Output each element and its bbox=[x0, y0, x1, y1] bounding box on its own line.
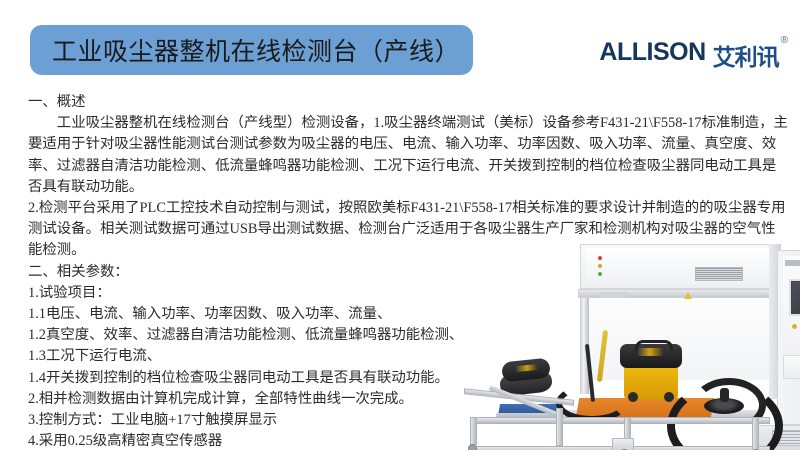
section-one-heading: 一、概述 bbox=[28, 92, 788, 113]
title-banner: 工业吸尘器整机在线检测台（产线） bbox=[30, 25, 473, 75]
slide-root: 工业吸尘器整机在线检测台（产线） ALLISON 艾利讯 ® 一、概述 工业吸尘… bbox=[0, 0, 800, 450]
overview-paragraph-1: 工业吸尘器整机在线检测台（产线型）检测设备，1.吸尘器终端测试（美标）设备参考F… bbox=[28, 113, 788, 198]
touchscreen-display bbox=[792, 282, 800, 313]
param-item: 2.相并检测数据由计算机完成计算，全部特性曲线一次完成。 bbox=[28, 389, 788, 410]
param-item: 1.2真空度、效率、过滤器自清洁功能检测、低流量蜂鸣器功能检测、 bbox=[28, 325, 788, 346]
registered-trademark-icon: ® bbox=[781, 35, 788, 46]
logo-chinese-text: 艾利讯 bbox=[713, 38, 779, 72]
param-item: 1.试验项目： bbox=[28, 283, 788, 304]
param-item: 3.控制方式：工业电脑+17寸触摸屏显示 bbox=[28, 410, 788, 431]
param-item: 1.3工况下运行电流、 bbox=[28, 346, 788, 367]
pushbutton-amber-icon bbox=[792, 324, 797, 329]
body-copy: 一、概述 工业吸尘器整机在线检测台（产线型）检测设备，1.吸尘器终端测试（美标）… bbox=[28, 92, 788, 450]
param-item: 1.1电压、电流、输入功率、功率因数、吸入功率、流量、 bbox=[28, 304, 788, 325]
param-item: 4.采用0.25级高精密真空传感器 bbox=[28, 431, 788, 450]
param-item: 1.4开关拨到控制的档位检查吸尘器同电动工具是否具有联动功能。 bbox=[28, 368, 788, 389]
section-two-heading: 二、相关参数： bbox=[28, 262, 788, 283]
logo-english-text: ALLISON bbox=[599, 38, 705, 67]
page-title: 工业吸尘器整机在线检测台（产线） bbox=[52, 32, 460, 68]
overview-paragraph-2: 2.检测平台采用了PLC工控技术自动控制与测试，按照欧美标F431-21\F55… bbox=[28, 198, 788, 262]
brand-logo: ALLISON 艾利讯 ® bbox=[599, 38, 788, 72]
